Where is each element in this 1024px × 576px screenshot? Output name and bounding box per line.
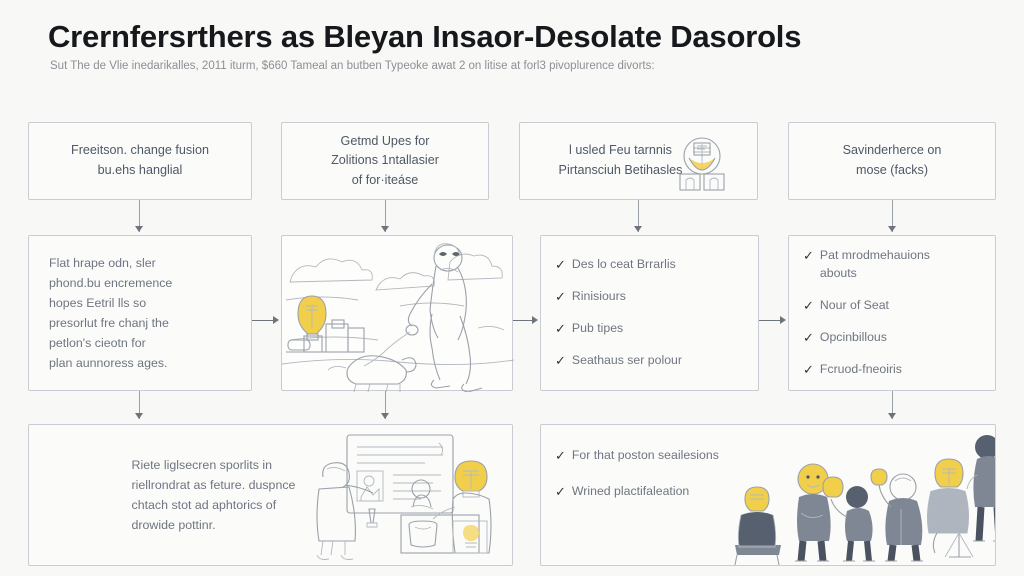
connector-r2-2-h <box>513 320 533 321</box>
infographic-canvas: Crernfersrthers as Bleyan Insaor-Desolat… <box>0 0 1024 576</box>
list-item-label: Pub tipes <box>572 320 623 338</box>
column-2-header-box[interactable]: Getmd Upes for Zolitions 1ntallasier of … <box>281 122 489 200</box>
list-item[interactable]: ✓ Des lo ceat Brrarlis <box>555 256 744 274</box>
column-3-header-box[interactable]: l usled Feu tarnnis Pirtansciuh Betihasl… <box>519 122 758 200</box>
column-1-header-label: Freeitson. change fusion bu.ehs hanglial <box>29 141 251 180</box>
column-3-checklist-box[interactable]: ✓ Des lo ceat Brrarlis ✓ Rinisiours ✓ Pu… <box>540 235 759 391</box>
list-item-label: Des lo ceat Brrarlis <box>572 256 676 274</box>
check-icon: ✓ <box>555 320 566 338</box>
check-icon: ✓ <box>803 361 814 379</box>
check-icon: ✓ <box>803 329 814 347</box>
column-2-header-label: Getmd Upes for Zolitions 1ntallasier of … <box>282 132 488 191</box>
list-item[interactable]: ✓ Seathaus ser polour <box>555 352 744 370</box>
column-3-checklist: ✓ Des lo ceat Brrarlis ✓ Rinisiours ✓ Pu… <box>541 236 758 390</box>
check-icon: ✓ <box>555 447 566 465</box>
column-4-checklist: ✓ Pat mrodmehauions abouts ✓ Nour of Sea… <box>789 236 995 390</box>
connector-r2-3-h <box>759 320 781 321</box>
list-item-label: For that poston seailesions <box>572 447 719 465</box>
column-1-body-box[interactable]: Flat hrape odn, sler phond.bu encremence… <box>28 235 252 391</box>
column-2-illustration-box[interactable] <box>281 235 513 391</box>
column-3-header-label: l usled Feu tarnnis Pirtansciuh Betihasl… <box>520 141 757 180</box>
list-item-label: Wrined plactifaleation <box>572 483 689 501</box>
list-item[interactable]: ✓ Opcinbillous <box>803 329 981 347</box>
check-icon: ✓ <box>555 352 566 370</box>
list-item[interactable]: ✓ Fcruod-fneoiris <box>803 361 981 379</box>
column-4-checklist-box[interactable]: ✓ Pat mrodmehauions abouts ✓ Nour of Sea… <box>788 235 996 391</box>
list-item-label: Nour of Seat <box>820 297 889 315</box>
connector-col3-arrowhead <box>634 226 642 232</box>
check-icon: ✓ <box>803 247 814 265</box>
connector-r2-2-arrowhead <box>532 316 538 324</box>
column-4-header-label: Savinderherce on mose (facks) <box>789 141 995 180</box>
list-item[interactable]: ✓ Nour of Seat <box>803 297 981 315</box>
bottom-right-box[interactable]: ✓ For that poston seailesions ✓ Wrined p… <box>540 424 996 566</box>
connector-r2-1-h <box>252 320 274 321</box>
list-item[interactable]: ✓ Wrined plactifaleation <box>555 483 981 501</box>
list-item[interactable]: ✓ Pub tipes <box>555 320 744 338</box>
check-icon: ✓ <box>555 288 566 306</box>
list-item-label: Fcruod-fneoiris <box>820 361 902 379</box>
column-4-header-box[interactable]: Savinderherce on mose (facks) <box>788 122 996 200</box>
list-item-label: Opcinbillous <box>820 329 887 347</box>
connector-bottom-mid-arrowhead <box>381 413 389 419</box>
connector-col1-arrowhead <box>135 226 143 232</box>
list-item[interactable]: ✓ Pat mrodmehauions abouts <box>803 247 981 283</box>
page-subtitle: Sut The de Vlie inedarikalles, 2011 itur… <box>50 59 1000 74</box>
connector-bottom-right-arrowhead <box>888 413 896 419</box>
check-icon: ✓ <box>555 256 566 274</box>
walker-scene-illustration <box>282 236 514 392</box>
list-item-label: Seathaus ser polour <box>572 352 682 370</box>
connector-r2-1-arrowhead <box>273 316 279 324</box>
connector-col4-arrowhead <box>888 226 896 232</box>
list-item-label: Pat mrodmehauions abouts <box>820 247 930 283</box>
connector-col2-arrowhead <box>381 226 389 232</box>
bottom-left-text: Riete liglsecren sporlits in riellrondra… <box>112 455 430 535</box>
list-item[interactable]: ✓ Rinisiours <box>555 288 744 306</box>
bottom-left-box[interactable]: Riete liglsecren sporlits in riellrondra… <box>28 424 513 566</box>
page-title: Crernfersrthers as Bleyan Insaor-Desolat… <box>48 20 978 55</box>
list-item-label: Rinisiours <box>572 288 626 306</box>
check-icon: ✓ <box>803 297 814 315</box>
connector-bottom-left-arrowhead <box>135 413 143 419</box>
connector-r2-3-arrowhead <box>780 316 786 324</box>
list-item[interactable]: ✓ For that poston seailesions <box>555 447 981 465</box>
bottom-checklist: ✓ For that poston seailesions ✓ Wrined p… <box>541 425 995 565</box>
column-1-header-box[interactable]: Freeitson. change fusion bu.ehs hanglial <box>28 122 252 200</box>
check-icon: ✓ <box>555 483 566 501</box>
column-1-body-text: Flat hrape odn, sler phond.bu encremence… <box>29 253 251 374</box>
